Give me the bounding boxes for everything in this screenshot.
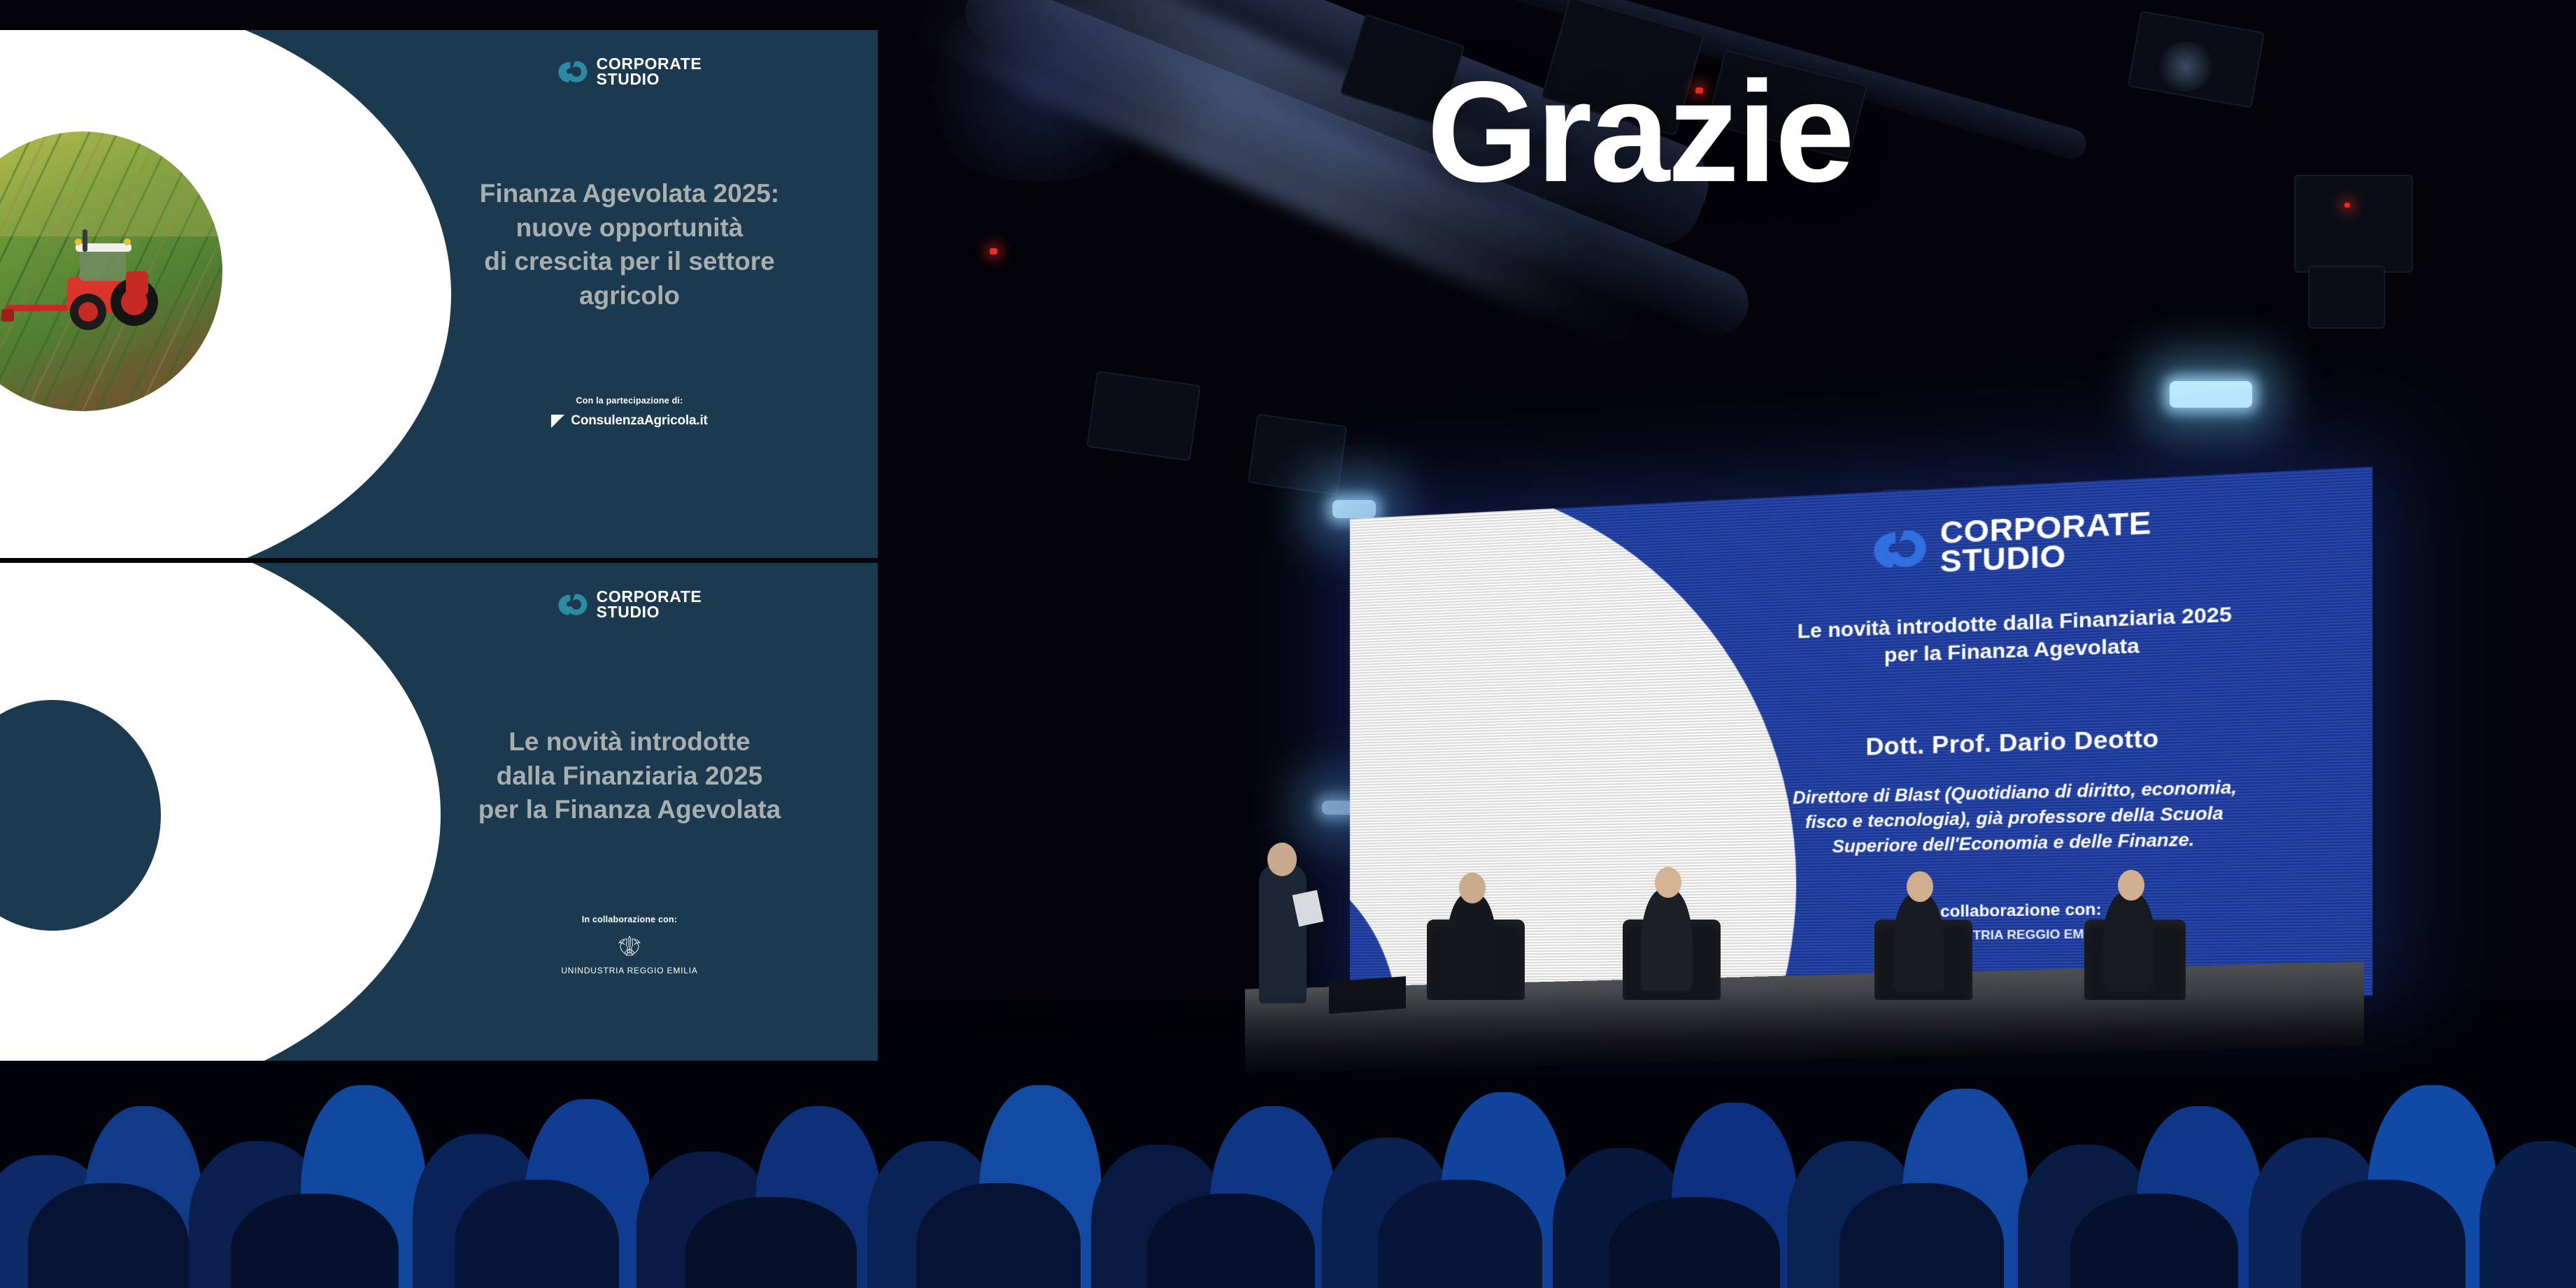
slide-card-finanza-agevolata: CORPORATE STUDIO Finanza Agevolata 2025:… <box>0 30 878 558</box>
card1-partner: ConsulenzaAgricola.it <box>406 413 853 429</box>
person-head <box>1267 843 1297 876</box>
person-seated <box>2102 892 2156 992</box>
card1-brand-wordmark: CORPORATE STUDIO <box>597 57 702 87</box>
card1-kicker: Con la partecipazione di: <box>406 396 853 406</box>
person-seated <box>1893 894 1944 992</box>
stage-light-icon <box>2294 175 2413 273</box>
screen-speaker-bio: Direttore di Blast (Quotidiano di diritt… <box>1685 772 2356 862</box>
slide-card-finanziaria-2025: CORPORATE STUDIO Le novità introdotte da… <box>0 563 878 1061</box>
card2-content: CORPORATE STUDIO Le novità introdotte da… <box>406 563 853 1061</box>
card2-partner: UNINDUSTRIA REGGIO EMILIA <box>406 934 853 975</box>
corporate-studio-infinity-icon <box>557 592 588 617</box>
person-head <box>1655 867 1681 898</box>
indicator-led-icon <box>2344 203 2350 208</box>
person-standing <box>1259 864 1307 1003</box>
person-head <box>1459 873 1486 903</box>
stage-light-icon <box>1086 371 1201 461</box>
person-seated <box>1446 894 1497 992</box>
screen-content: CORPORATE STUDIO Le novità introdotte da… <box>1685 498 2356 862</box>
screen-brand-logo: CORPORATE STUDIO <box>1685 498 2356 587</box>
card1-title: Finanza Agevolata 2025: nuove opportunit… <box>406 177 853 313</box>
unindustria-eagle-icon <box>615 934 643 963</box>
screen-collaboration-block: In collaborazione con: UNINDUSTRIA REGGI… <box>1685 896 2356 946</box>
light-glow <box>2154 42 2217 91</box>
stage-light-icon <box>1322 801 1353 815</box>
card1-content: CORPORATE STUDIO Finanza Agevolata 2025:… <box>406 30 853 558</box>
corporate-studio-infinity-icon <box>1872 527 1928 572</box>
stage-light-icon <box>2170 381 2252 408</box>
screen-title: Le novità introdotte dalla Finanziaria 2… <box>1685 595 2356 676</box>
grazie-overlay-text: Grazie <box>1427 60 1853 203</box>
card2-brand-wordmark: CORPORATE STUDIO <box>597 589 702 620</box>
indicator-led-icon <box>990 248 997 255</box>
screen-speaker-name: Dott. Prof. Dario Deotto <box>1685 719 2356 766</box>
stage-light-icon <box>1332 500 1376 518</box>
screen-brand-wordmark: CORPORATE STUDIO <box>1940 508 2152 577</box>
corporate-studio-infinity-icon <box>557 59 588 84</box>
card2-brand-logo: CORPORATE STUDIO <box>406 589 853 620</box>
screen-collab-partner: UNINDUSTRIA REGGIO EMILIA <box>1685 924 2356 946</box>
card2-kicker: In collaborazione con: <box>406 915 853 924</box>
consulenza-agricola-square-icon <box>551 415 564 428</box>
light-glow <box>906 0 1172 182</box>
person-head <box>1907 871 1933 902</box>
person-seated <box>1641 889 1693 991</box>
card1-brand-logo: CORPORATE STUDIO <box>406 57 853 87</box>
card1-partner-name: ConsulenzaAgricola.it <box>571 413 707 429</box>
card2-partner-name: UNINDUSTRIA REGGIO EMILIA <box>561 966 697 975</box>
stage-light-icon <box>1248 413 1348 495</box>
card2-title: Le novità introdotte dalla Finanziaria 2… <box>406 725 853 827</box>
stage-light-icon <box>2308 266 2385 329</box>
person-head <box>2118 870 2144 901</box>
